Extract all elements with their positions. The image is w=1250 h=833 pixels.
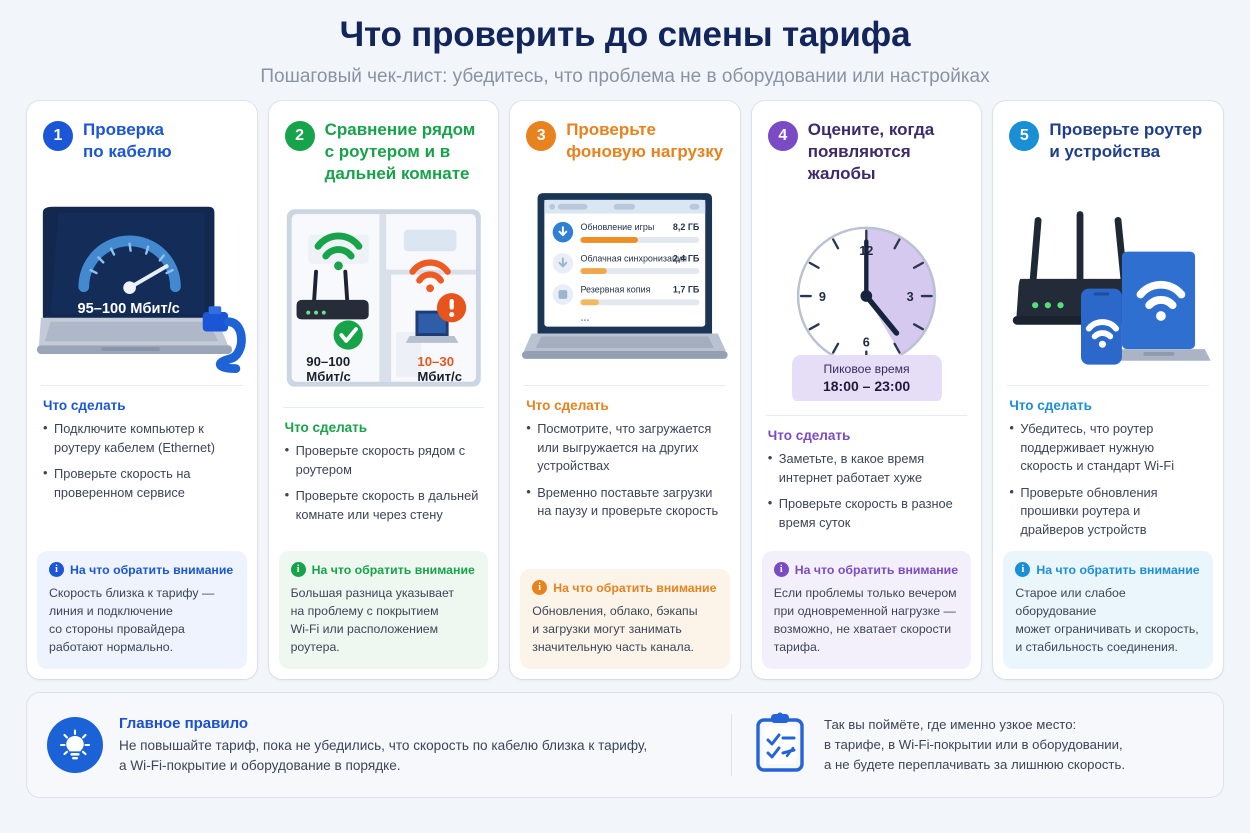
peak-sector [866,228,936,356]
step-card-5[interactable]: 5 Проверьте роутер и устройства [993,101,1223,679]
todo-heading-3: Что сделать [526,398,724,413]
step-number-badge-2: 2 [285,121,315,151]
note-heading-1: i На что обратить внимание [49,562,235,577]
card-header-2: 2 Сравнение рядом с роутером и в дальней… [269,101,499,187]
step-card-1[interactable]: 1 Проверка по кабелю [27,101,257,679]
peak-time-chip: Пиковое время 18:00 – 23:00 [792,355,942,401]
step-number-badge-1: 1 [43,121,73,151]
note-block-3: i На что обратить внимание Обновления, о… [520,569,730,669]
todo-list-2: Проверьте скорость рядом с роутером Пров… [285,442,483,524]
card-header-1: 1 Проверка по кабелю [27,101,257,165]
infographic-page: Что проверить до смены тарифа Пошаговый … [0,0,1250,833]
note-heading-label: На что обратить внимание [553,581,716,595]
info-icon: i [1015,562,1030,577]
illustration-rooms-compare: 90–100 Мбит/с [279,193,489,401]
todo-item: Проверьте скорость на проверенном сервис… [43,465,241,502]
info-icon: i [49,562,64,577]
downloads-ellipsis: ... [581,312,590,324]
note-heading-3: i На что обратить внимание [532,580,718,595]
far-speed-line1: 10–30 [417,354,454,369]
note-text-3: Обновления, облако, бэкапы и загрузки мо… [532,602,718,656]
download-progress-2 [581,268,607,274]
download-size-3: 1,7 ГБ [673,285,700,295]
illustration-router-devices [1003,171,1213,379]
card-header-4: 4 Оцените, когда появляются жалобы [752,101,982,187]
todo-list-3: Посмотрите, что загружается или выгружае… [526,420,724,521]
near-speed-line2: Мбит/с [306,369,351,384]
todo-item: Посмотрите, что загружается или выгружае… [526,420,724,476]
download-progress-3 [581,299,600,305]
todo-block-5: Что сделать Убедитесь, что роутер поддер… [993,386,1223,551]
todo-item: Подключите компьютер к роутеру кабелем (… [43,420,241,457]
main-rule-text-wrap: Главное правило Не повышайте тариф, пока… [119,715,647,776]
note-block-2: i На что обратить внимание Большая разни… [279,551,489,669]
card-title-4: Оцените, когда появляются жалобы [808,119,968,185]
card-title-3: Проверьте фоновую нагрузку [566,119,723,163]
todo-block-2: Что сделать Проверьте скорость рядом с р… [269,408,499,551]
step-number-badge-5: 5 [1009,121,1039,151]
step-number-badge-4: 4 [768,121,798,151]
todo-list-4: Заметьте, в какое время интернет работае… [768,450,966,532]
peak-time-title: Пиковое время [808,361,926,377]
result-text: Так вы поймёте, где именно узкое место: … [824,715,1125,775]
download-size-1: 8,2 ГБ [673,222,700,232]
download-name-3: Резервная копия [581,285,651,295]
note-block-5: i На что обратить внимание Старое или сл… [1003,551,1213,669]
check-badge [333,320,362,349]
page-title: Что проверить до смены тарифа [0,14,1250,56]
note-text-1: Скорость близка к тарифу — линия и подкл… [49,584,235,656]
note-heading-label: На что обратить внимание [312,563,475,577]
clock-hour-3: 3 [906,290,913,304]
main-rule-text: Не повышайте тариф, пока не убедились, ч… [119,736,647,776]
footer-panel: Главное правило Не повышайте тариф, пока… [27,693,1223,797]
card-title-5: Проверьте роутер и устройства [1049,119,1202,163]
todo-item: Проверьте скорость в разное время суток [768,495,966,532]
download-name-2: Облачная синхронизация [581,253,688,263]
illustration-clock: 12 3 6 9 Пиковое время 18:00 – 23:00 [762,193,972,401]
step-number-badge-3: 3 [526,121,556,151]
footer-divider [731,714,732,776]
note-heading-label: На что обратить внимание [795,563,958,577]
lightbulb-icon [47,717,103,773]
page-header: Что проверить до смены тарифа Пошаговый … [0,0,1250,93]
todo-item: Проверьте скорость рядом с роутером [285,442,483,479]
far-speed-line2: Мбит/с [417,369,462,384]
note-heading-label: На что обратить внимание [1036,563,1199,577]
illustration-laptop-ethernet: 95–100 Мбит/с [37,171,247,379]
page-subtitle: Пошаговый чек-лист: убедитесь, что пробл… [0,65,1250,89]
todo-heading-5: Что сделать [1009,398,1207,413]
todo-heading-4: Что сделать [768,428,966,443]
note-text-4: Если проблемы только вечером при одновре… [774,584,960,656]
peak-time-range: 18:00 – 23:00 [808,377,926,396]
todo-heading-1: Что сделать [43,398,241,413]
todo-item: Проверьте скорость в дальней комнате или… [285,487,483,524]
near-speed-line1: 90–100 [306,354,350,369]
todo-item: Заметьте, в какое время интернет работае… [768,450,966,487]
todo-block-4: Что сделать Заметьте, в какое время инте… [752,416,982,551]
main-rule-block: Главное правило Не повышайте тариф, пока… [47,715,727,776]
todo-heading-2: Что сделать [285,420,483,435]
download-progress-1 [581,237,639,243]
step-card-4[interactable]: 4 Оцените, когда появляются жалобы [752,101,982,679]
todo-list-5: Убедитесь, что роутер поддерживает нужну… [1009,420,1207,539]
note-heading-2: i На что обратить внимание [291,562,477,577]
note-block-1: i На что обратить внимание Скорость близ… [37,551,247,669]
steps-row: 1 Проверка по кабелю [0,93,1250,679]
info-icon: i [291,562,306,577]
card-title-2: Сравнение рядом с роутером и в дальней к… [325,119,476,185]
clock-hour-9: 9 [819,290,826,304]
todo-item: Убедитесь, что роутер поддерживает нужну… [1009,420,1207,476]
download-size-2: 2,4 ГБ [673,253,700,263]
info-icon: i [532,580,547,595]
todo-list-1: Подключите компьютер к роутеру кабелем (… [43,420,241,502]
clipboard-checklist-icon [754,712,806,779]
note-heading-label: На что обратить внимание [70,563,233,577]
todo-block-1: Что сделать Подключите компьютер к роуте… [27,386,257,551]
note-text-2: Большая разница указывает на проблему с … [291,584,477,656]
info-icon: i [774,562,789,577]
illustration-laptop-downloads: Обновление игры 8,2 ГБ Облачная синхрони… [520,171,730,379]
card-header-3: 3 Проверьте фоновую нагрузку [510,101,740,165]
card-header-5: 5 Проверьте роутер и устройства [993,101,1223,165]
card-title-1: Проверка по кабелю [83,119,172,163]
main-rule-title: Главное правило [119,715,647,732]
step-card-3[interactable]: 3 Проверьте фоновую нагрузку Обновле [510,101,740,679]
speed-label-cable: 95–100 Мбит/с [77,301,179,317]
step-card-2[interactable]: 2 Сравнение рядом с роутером и в дальней… [269,101,499,679]
note-heading-5: i На что обратить внимание [1015,562,1201,577]
result-block: Так вы поймёте, где именно узкое место: … [754,712,1125,779]
note-block-4: i На что обратить внимание Если проблемы… [762,551,972,669]
todo-item: Временно поставьте загрузки на паузу и п… [526,484,724,521]
note-heading-4: i На что обратить внимание [774,562,960,577]
note-text-5: Старое или слабое оборудование может огр… [1015,584,1201,656]
todo-item: Проверьте обновления прошивки роутера и … [1009,484,1207,540]
clock-hour-6: 6 [863,336,870,350]
todo-block-3: Что сделать Посмотрите, что загружается … [510,386,740,569]
download-name-1: Обновление игры [581,222,655,232]
